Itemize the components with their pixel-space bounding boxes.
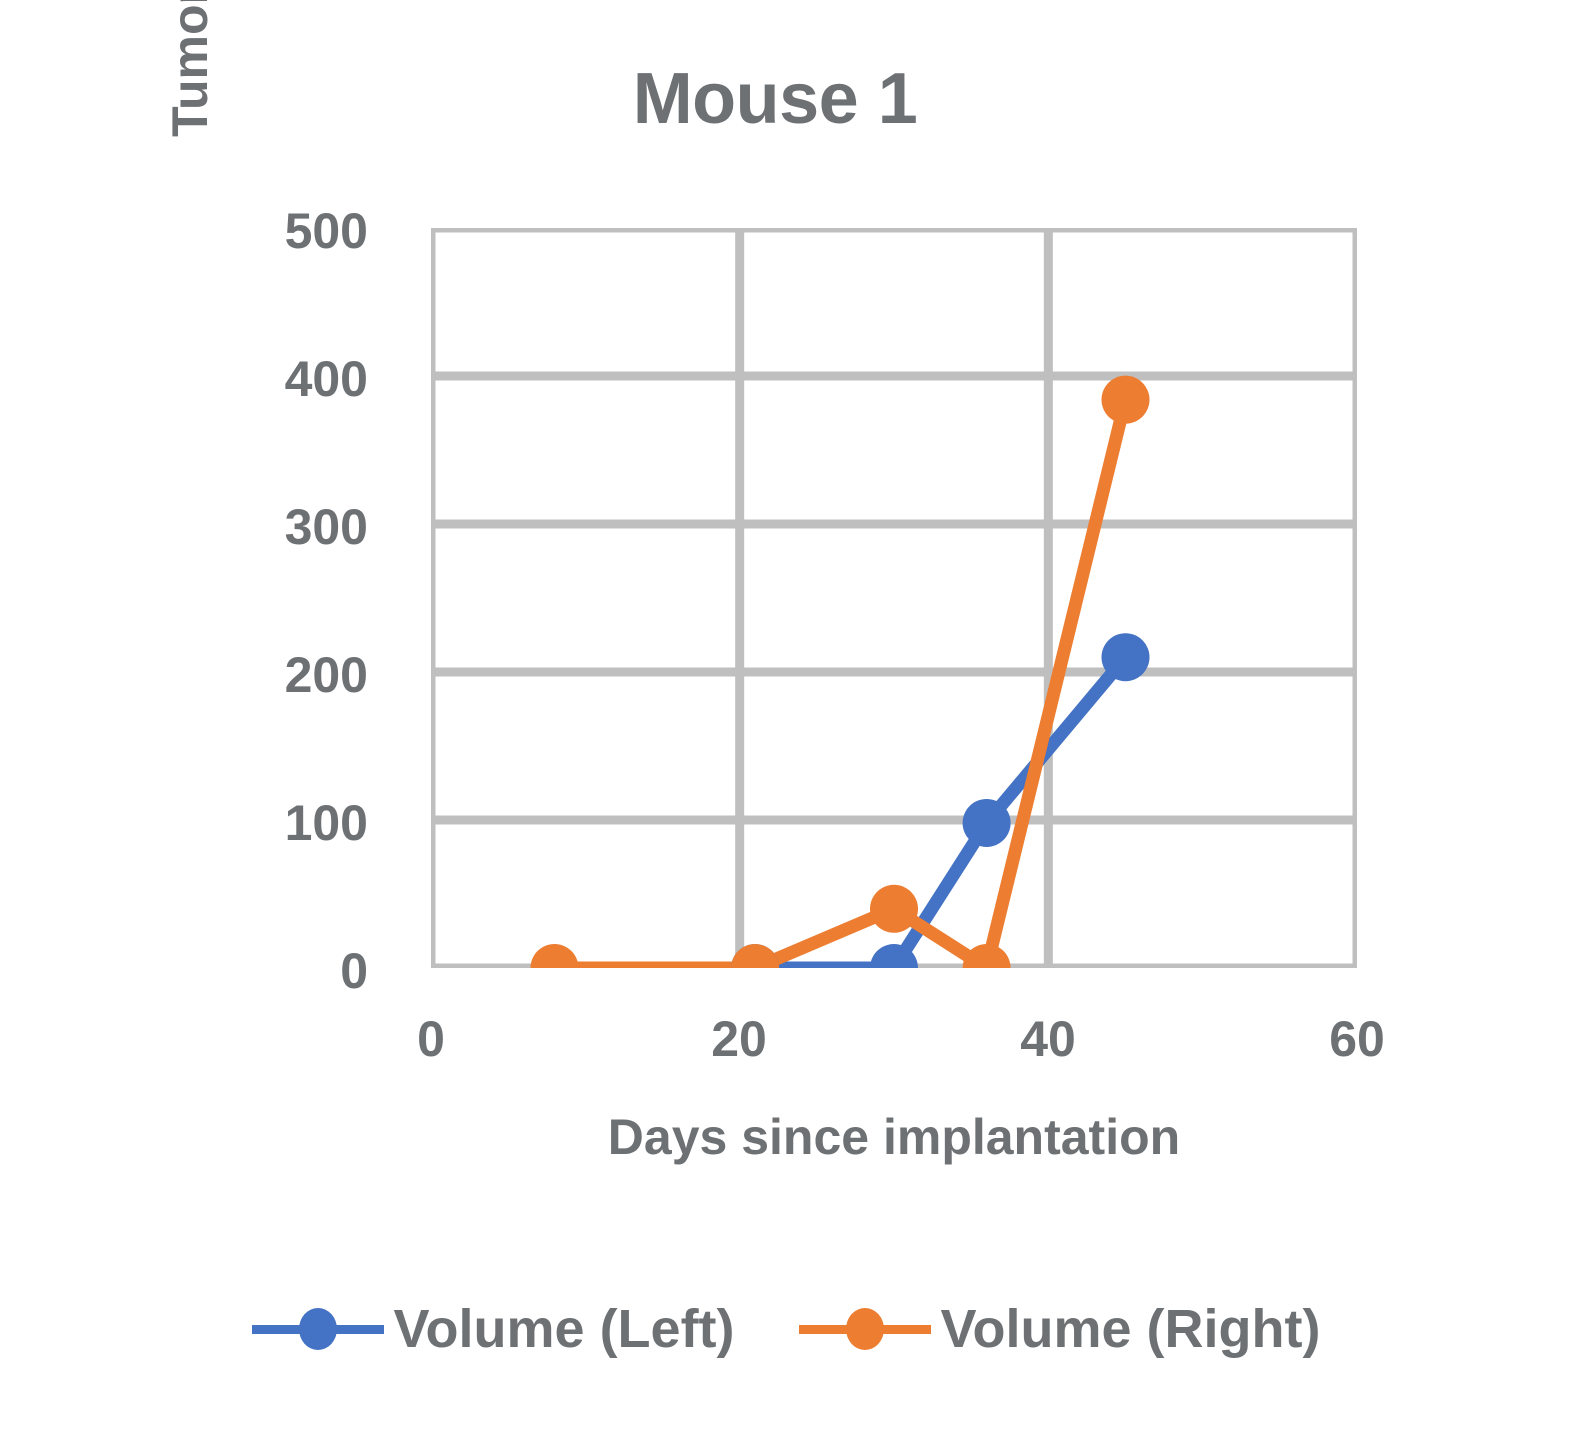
- x-tick-label-0: 0: [381, 1010, 481, 1068]
- y-tick-label-0: 0: [268, 942, 368, 1000]
- y-axis-title: Tumor Vol. (mm3): [155, 0, 225, 298]
- chart-legend: Volume (Left) Volume (Right): [0, 1298, 1572, 1360]
- y-tick-label-300: 300: [268, 498, 368, 556]
- data-point-marker[interactable]: [1102, 376, 1150, 424]
- legend-key-volume-left: [252, 1300, 384, 1358]
- data-point-marker[interactable]: [1102, 633, 1150, 681]
- chart-container: Mouse 1 Tumor Vol. (mm3) Days since impl…: [0, 0, 1572, 1435]
- x-tick-label-20: 20: [689, 1010, 789, 1068]
- legend-key-volume-right: [799, 1300, 931, 1358]
- x-axis-title: Days since implantation: [431, 1108, 1357, 1166]
- y-tick-label-200: 200: [268, 646, 368, 704]
- data-point-marker[interactable]: [530, 944, 578, 968]
- y-tick-label-100: 100: [268, 794, 368, 852]
- data-point-marker[interactable]: [870, 885, 918, 933]
- legend-item-volume-right[interactable]: Volume (Right): [799, 1298, 1321, 1360]
- plot-area: [431, 228, 1357, 968]
- data-point-marker[interactable]: [963, 944, 1011, 968]
- legend-item-volume-left[interactable]: Volume (Left): [252, 1298, 735, 1360]
- legend-label-volume-left: Volume (Left): [394, 1298, 735, 1360]
- series-lines: [554, 400, 1125, 968]
- series-line-volume-right: [554, 400, 1125, 968]
- x-tick-label-40: 40: [998, 1010, 1098, 1068]
- y-tick-label-400: 400: [268, 350, 368, 408]
- chart-title-text: Mouse 1: [633, 58, 918, 140]
- chart-title: Mouse 1: [0, 58, 1572, 140]
- data-point-marker[interactable]: [963, 799, 1011, 847]
- plot-svg: [431, 228, 1357, 968]
- series-line-volume-left: [755, 657, 1125, 968]
- legend-marker-icon: [299, 1308, 337, 1350]
- x-tick-label-60: 60: [1307, 1010, 1407, 1068]
- gridlines: [431, 228, 1357, 968]
- y-tick-label-500: 500: [268, 202, 368, 260]
- legend-marker-icon: [846, 1308, 884, 1350]
- legend-label-volume-right: Volume (Right): [941, 1298, 1321, 1360]
